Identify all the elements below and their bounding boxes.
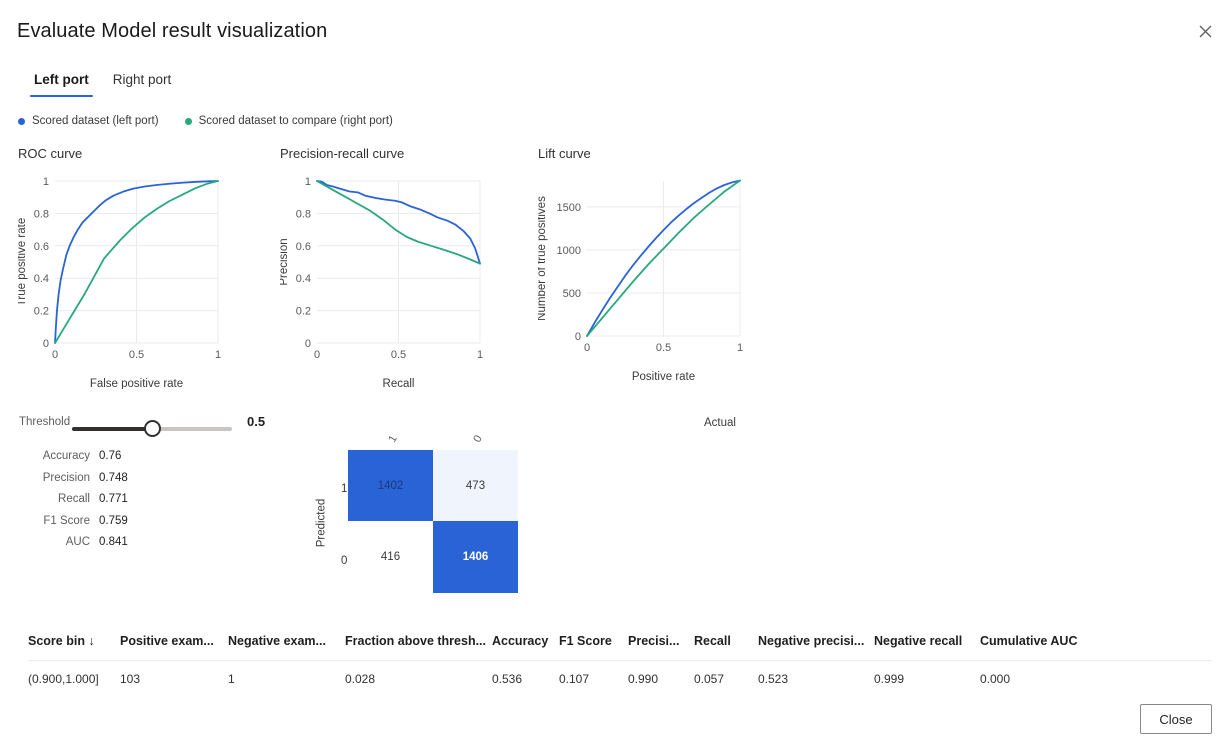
y-tick-label: 0 bbox=[575, 331, 581, 343]
metric-row-precision: Precision0.748 bbox=[0, 472, 220, 494]
y-tick-label: 0.4 bbox=[296, 273, 311, 285]
table-row[interactable]: (0.900,1.000]10310.0280.5360.1070.9900.0… bbox=[0, 660, 1230, 700]
threshold-control: Threshold 0.5 bbox=[0, 412, 300, 436]
table-cell: (0.900,1.000] bbox=[28, 672, 99, 686]
table-cell: 0.536 bbox=[492, 672, 522, 686]
confusion-matrix-cell-tp[interactable]: 1402 bbox=[348, 450, 433, 521]
metric-value: 0.759 bbox=[99, 515, 128, 527]
legend-dot-icon bbox=[185, 118, 192, 125]
x-tick-label: 0.5 bbox=[656, 342, 671, 354]
tab-right-port[interactable]: Right port bbox=[101, 70, 184, 97]
slider-thumb[interactable] bbox=[144, 420, 161, 437]
y-axis-title: Precision bbox=[280, 238, 290, 285]
y-tick-label: 1000 bbox=[557, 245, 581, 257]
metric-row-f1-score: F1 Score0.759 bbox=[0, 515, 220, 537]
evaluate-model-dialog: Evaluate Model result visualization Left… bbox=[0, 0, 1230, 743]
threshold-label: Threshold bbox=[19, 416, 70, 428]
score-bin-table: Score bin ↓Positive exam...Negative exam… bbox=[0, 620, 1230, 700]
x-tick-label: 1 bbox=[737, 342, 743, 354]
y-tick-label: 0.6 bbox=[34, 241, 49, 253]
y-tick-label: 1 bbox=[43, 176, 49, 188]
legend-label: Scored dataset to compare (right port) bbox=[199, 115, 393, 127]
legend-dot-icon bbox=[18, 118, 25, 125]
column-header[interactable]: Negative precisi... bbox=[758, 634, 864, 648]
metric-name: Recall bbox=[58, 493, 90, 505]
dialog-footer: Close bbox=[0, 695, 1230, 743]
x-axis-title: False positive rate bbox=[90, 378, 183, 389]
legend-item-left-port: Scored dataset (left port) bbox=[18, 115, 159, 127]
confusion-matrix-row-label-0: 0 bbox=[341, 555, 347, 567]
metric-row-auc: AUC0.841 bbox=[0, 536, 220, 558]
x-tick-label: 1 bbox=[215, 349, 221, 361]
column-header[interactable]: Score bin ↓ bbox=[28, 634, 95, 648]
confusion-matrix-column-label-0: 0 bbox=[471, 433, 484, 444]
cell-value: 1402 bbox=[378, 480, 404, 492]
close-icon[interactable] bbox=[1192, 18, 1218, 44]
x-tick-label: 0.5 bbox=[391, 349, 406, 361]
chart-legend: Scored dataset (left port) Scored datase… bbox=[18, 115, 393, 127]
y-tick-label: 0.4 bbox=[34, 273, 49, 285]
table-cell: 0.057 bbox=[694, 672, 724, 686]
cell-value: 473 bbox=[466, 480, 485, 492]
metric-name: AUC bbox=[66, 536, 90, 548]
threshold-slider[interactable] bbox=[72, 427, 232, 431]
column-header[interactable]: Accuracy bbox=[492, 634, 548, 648]
chart-title: Precision-recall curve bbox=[280, 146, 404, 161]
y-tick-label: 0 bbox=[43, 338, 49, 350]
plot-area: 05001000150000.51Positive rateNumber of … bbox=[538, 164, 778, 389]
metric-row-recall: Recall0.771 bbox=[0, 493, 220, 515]
cell-value: 1406 bbox=[463, 551, 489, 563]
column-header[interactable]: Cumulative AUC bbox=[980, 634, 1077, 648]
column-header[interactable]: F1 Score bbox=[559, 634, 612, 648]
confusion-matrix-row-label-1: 1 bbox=[341, 483, 347, 495]
table-header-row: Score bin ↓Positive exam...Negative exam… bbox=[0, 620, 1230, 660]
table-cell: 0.000 bbox=[980, 672, 1010, 686]
column-header[interactable]: Recall bbox=[694, 634, 731, 648]
y-tick-label: 1500 bbox=[557, 202, 581, 214]
charts-row: ROC curve 00.20.40.60.8100.51False posit… bbox=[0, 144, 1230, 389]
table-cell: 0.107 bbox=[559, 672, 589, 686]
y-tick-label: 0.8 bbox=[34, 208, 49, 220]
legend-label: Scored dataset (left port) bbox=[32, 115, 159, 127]
y-tick-label: 0.2 bbox=[34, 306, 49, 318]
metric-value: 0.841 bbox=[99, 536, 128, 548]
table-cell: 0.523 bbox=[758, 672, 788, 686]
confusion-matrix-column-label-1: 1 bbox=[386, 433, 399, 444]
y-tick-label: 1 bbox=[305, 176, 311, 188]
table-cell: 103 bbox=[120, 672, 140, 686]
y-axis-title: True positive rate bbox=[18, 218, 28, 306]
chart-title: Lift curve bbox=[538, 146, 591, 161]
x-tick-label: 0 bbox=[52, 349, 58, 361]
metric-row-accuracy: Accuracy0.76 bbox=[0, 450, 220, 472]
table-cell: 1 bbox=[228, 672, 235, 686]
confusion-matrix-cell-fn[interactable]: 416 bbox=[348, 521, 433, 593]
confusion-matrix: Actual Predicted 1 0 1 0 1402 473 416 14… bbox=[310, 405, 570, 605]
confusion-matrix-predicted-label: Predicted bbox=[315, 499, 327, 548]
x-axis-title: Positive rate bbox=[632, 371, 695, 383]
metric-name: Precision bbox=[43, 472, 90, 484]
column-header[interactable]: Positive exam... bbox=[120, 634, 214, 648]
plot-area: 00.20.40.60.8100.51False positive rateTr… bbox=[18, 164, 258, 389]
x-tick-label: 0.5 bbox=[129, 349, 144, 361]
column-header[interactable]: Precisi... bbox=[628, 634, 679, 648]
x-tick-label: 0 bbox=[584, 342, 590, 354]
confusion-matrix-cell-tn[interactable]: 1406 bbox=[433, 521, 518, 593]
metric-value: 0.76 bbox=[99, 450, 121, 462]
y-tick-label: 0.6 bbox=[296, 241, 311, 253]
metric-value: 0.771 bbox=[99, 493, 128, 505]
tab-left-port[interactable]: Left port bbox=[22, 70, 101, 97]
y-tick-label: 0.2 bbox=[296, 306, 311, 318]
metric-name: F1 Score bbox=[43, 515, 90, 527]
confusion-matrix-cell-fp[interactable]: 473 bbox=[433, 450, 518, 521]
column-header[interactable]: Negative exam... bbox=[228, 634, 326, 648]
y-tick-label: 0 bbox=[305, 338, 311, 350]
y-tick-label: 500 bbox=[563, 288, 581, 300]
metrics-list: Accuracy0.76Precision0.748Recall0.771F1 … bbox=[0, 450, 220, 558]
chart-title: ROC curve bbox=[18, 146, 82, 161]
plot-area: 00.20.40.60.8100.51RecallPrecision bbox=[280, 164, 520, 389]
metric-name: Accuracy bbox=[43, 450, 90, 462]
page-title: Evaluate Model result visualization bbox=[17, 20, 327, 43]
confusion-matrix-actual-label: Actual bbox=[704, 417, 736, 429]
metric-value: 0.748 bbox=[99, 472, 128, 484]
close-button[interactable]: Close bbox=[1140, 704, 1212, 734]
x-axis-title: Recall bbox=[383, 378, 415, 389]
table-cell: 0.990 bbox=[628, 672, 658, 686]
table-cell: 0.028 bbox=[345, 672, 375, 686]
column-header[interactable]: Negative recall bbox=[874, 634, 962, 648]
slider-fill bbox=[72, 427, 152, 431]
threshold-value: 0.5 bbox=[247, 414, 265, 429]
y-axis-title: Number of true positives bbox=[538, 196, 548, 321]
tab-bar: Left port Right port bbox=[22, 70, 183, 97]
y-tick-label: 0.8 bbox=[296, 208, 311, 220]
table-cell: 0.999 bbox=[874, 672, 904, 686]
column-header[interactable]: Fraction above thresh... bbox=[345, 634, 486, 648]
x-tick-label: 0 bbox=[314, 349, 320, 361]
cell-value: 416 bbox=[381, 551, 400, 563]
x-tick-label: 1 bbox=[477, 349, 483, 361]
legend-item-right-port: Scored dataset to compare (right port) bbox=[185, 115, 393, 127]
